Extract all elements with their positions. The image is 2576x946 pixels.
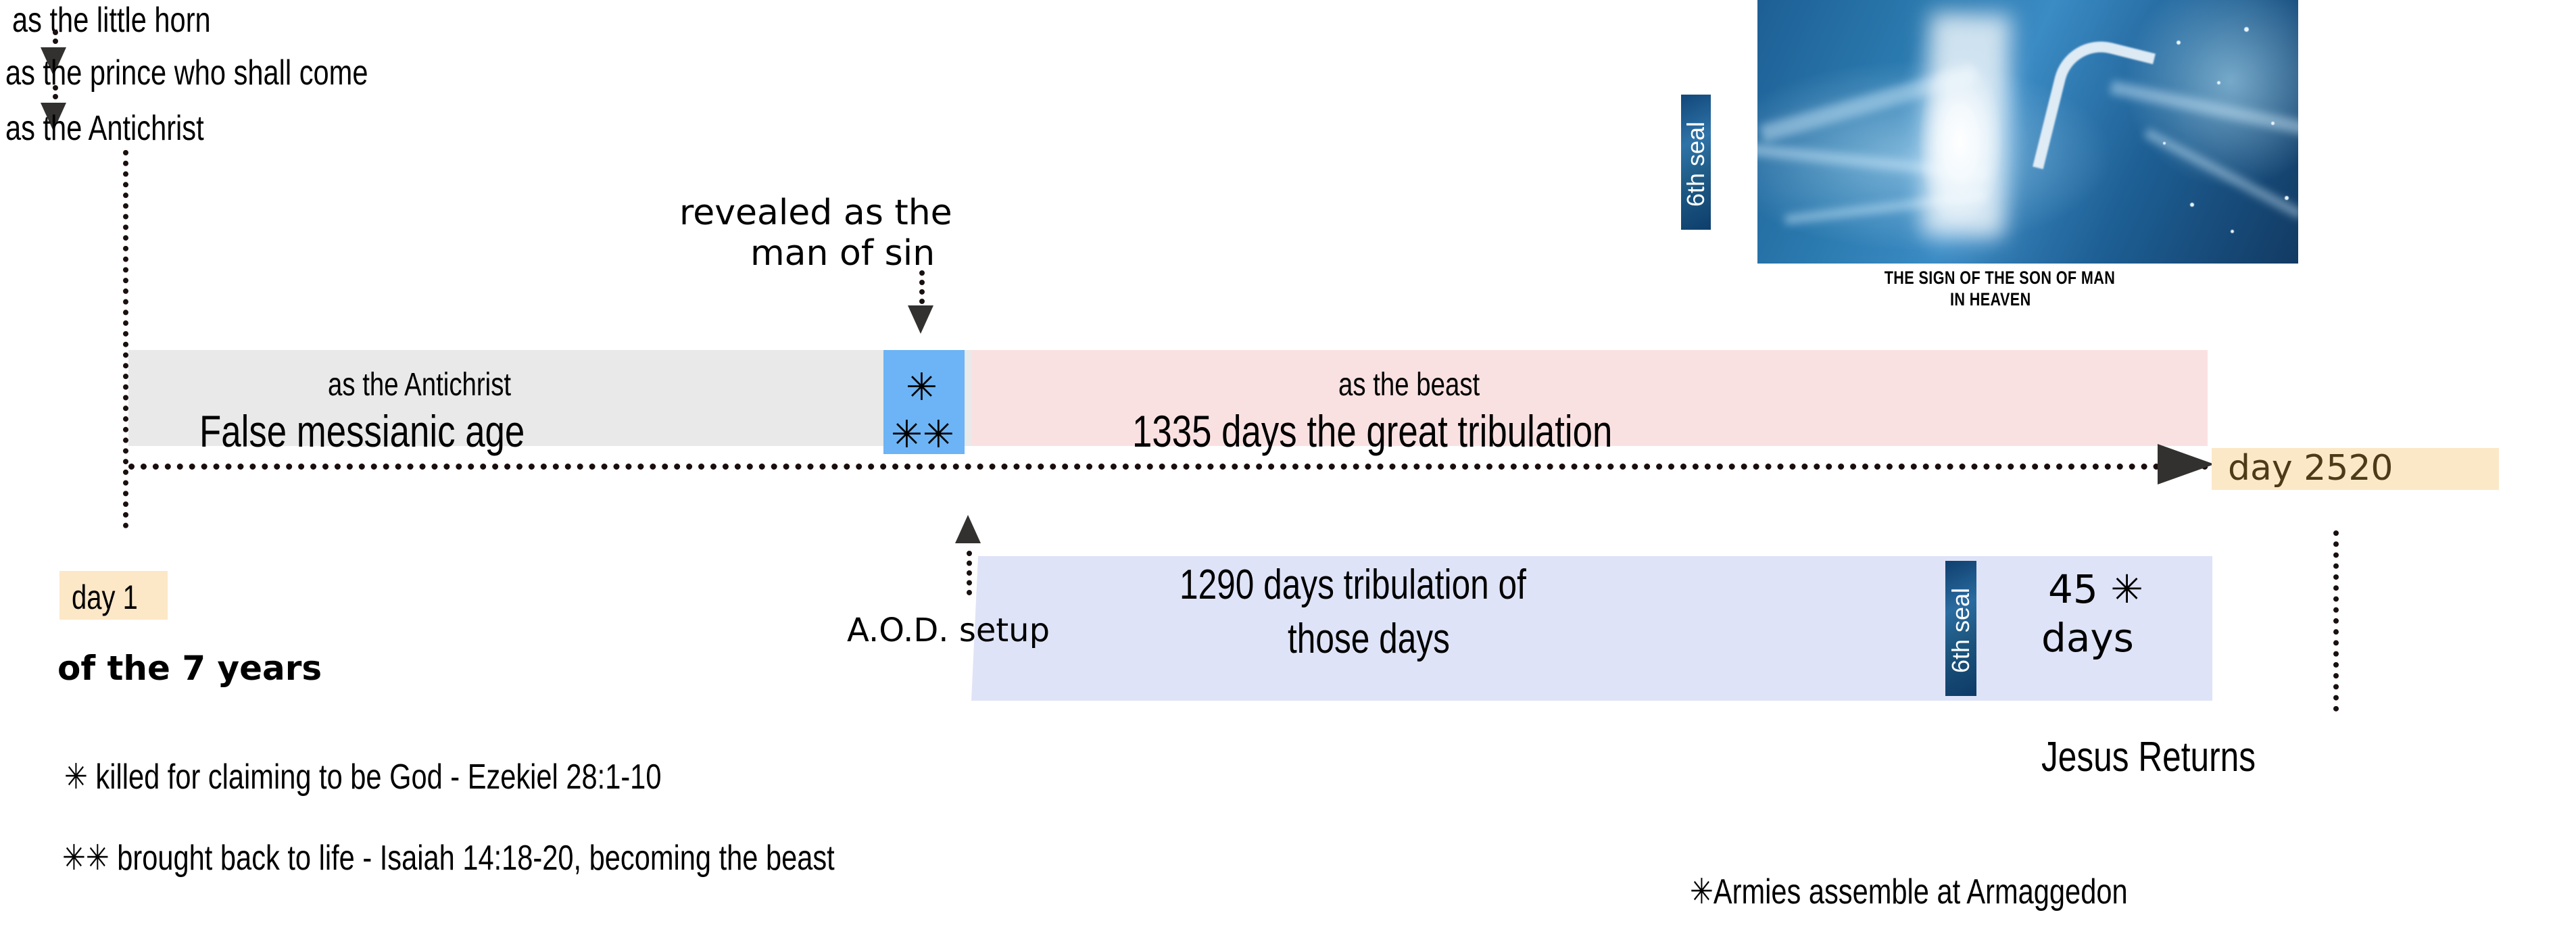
jesus-returns-vertical-guide — [2333, 530, 2339, 712]
great-tribulation-sublabel: as the beast — [1338, 366, 1480, 403]
sixth-seal-badge-top-label: 6th seal — [1682, 97, 1710, 232]
armageddon-footnote: ✳Armies assemble at Armaggedon — [1690, 872, 2128, 912]
forty-five-days-line-2: days — [2041, 615, 2134, 661]
sixth-seal-badge-lower: 6th seal — [1945, 561, 1976, 696]
tribulation-of-those-days-bar — [971, 556, 2212, 701]
forty-five-days-line-1: 45 ✳ — [2048, 566, 2143, 612]
double-asterisk-marker: ✳✳ — [891, 412, 954, 457]
aod-setup-arrow-icon — [955, 515, 981, 543]
cascade-item-antichrist: as the Antichrist — [5, 108, 204, 149]
tribulation-of-those-days-line-2: those days — [1288, 615, 1450, 663]
day-2520-chip-label: day 2520 — [2228, 448, 2393, 489]
revealed-callout-line-1: revealed as the — [679, 193, 952, 233]
sixth-seal-badge-lower-label: 6th seal — [1947, 563, 1975, 698]
picture-caption-line-2: IN HEAVEN — [1950, 289, 2031, 310]
false-messianic-age-label: False messianic age — [199, 405, 525, 457]
tribulation-of-those-days-line-1: 1290 days tribulation of — [1180, 561, 1526, 609]
timeline-dotted-axis — [128, 464, 2209, 470]
sixth-seal-badge-top: 6th seal — [1681, 95, 1711, 230]
day1-vertical-guide — [123, 150, 128, 528]
sign-of-the-son-of-man-image — [1757, 0, 2298, 264]
jesus-returns-label: Jesus Returns — [2041, 733, 2256, 781]
great-tribulation-label: 1335 days the great tribulation — [1132, 405, 1612, 457]
day-2520-chip: day 2520 — [2212, 448, 2499, 490]
of-the-7-years-label: of the 7 years — [57, 649, 322, 688]
footnote-single-asterisk: ✳ killed for claiming to be God - Ezekie… — [64, 757, 661, 797]
aod-setup-label: A.O.D. setup — [847, 612, 1050, 649]
day-1-chip-label: day 1 — [72, 578, 138, 617]
false-messianic-age-sublabel: as the Antichrist — [328, 366, 511, 403]
revealed-callout-line-2: man of sin — [750, 233, 935, 274]
timeline-arrow-right-icon — [2158, 444, 2214, 484]
day-1-chip: day 1 — [59, 571, 168, 620]
picture-caption-line-1: THE SIGN OF THE SON OF MAN — [1885, 268, 2116, 289]
single-asterisk-marker: ✳ — [906, 365, 938, 409]
footnote-double-asterisk: ✳✳ brought back to life - Isaiah 14:18-2… — [62, 838, 835, 878]
cascade-item-prince-who-shall-come: as the prince who shall come — [5, 53, 368, 93]
revealed-callout-arrow-icon — [908, 305, 933, 334]
cascade-item-little-horn: as the little horn — [12, 0, 211, 41]
aod-setup-connector-dots — [967, 551, 972, 595]
